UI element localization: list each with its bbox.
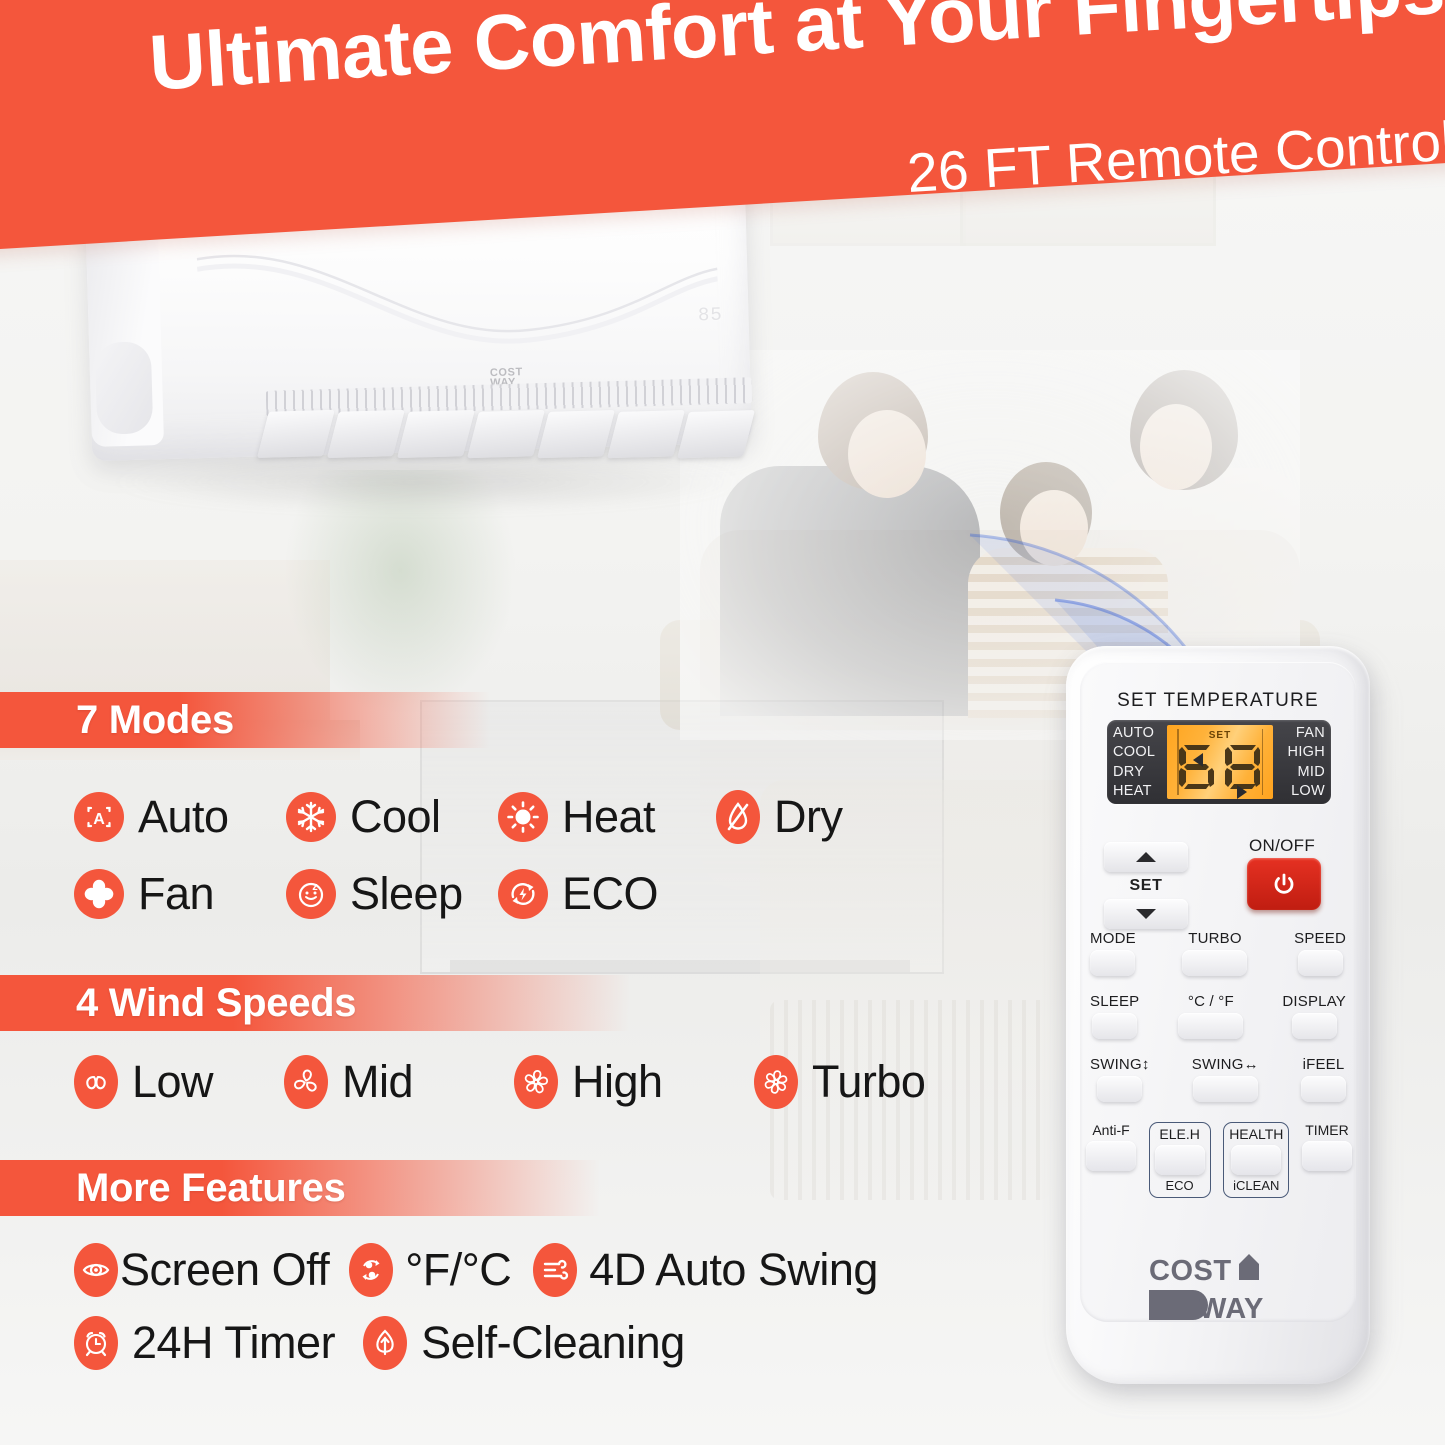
button-label: MODE [1090,930,1136,947]
set-temperature-label: SET TEMPERATURE [1066,690,1370,712]
lcd-fan-labels: FAN HIGH MID LOW [1273,725,1325,799]
mode-row-2: Fan z Sleep [74,868,658,920]
remote-button-grid: MODE TURBO SPEED SLEEP °C / °F [1090,930,1346,1119]
lcd-fan-fan: FAN [1296,725,1325,741]
feature-dry[interactable]: Dry [716,790,842,844]
feature-label: Sleep [350,868,463,920]
lcd-mode-cool: COOL [1113,744,1155,760]
button-cap[interactable] [1155,1145,1205,1175]
power-icon [1271,871,1297,897]
temp-convert-icon [349,1243,393,1297]
remote-button-row-2: SLEEP °C / °F DISPLAY [1090,993,1346,1039]
remote-button-turbo[interactable]: TURBO [1182,930,1247,976]
button-cap[interactable] [1092,1013,1137,1039]
feature-label: Screen Off [120,1244,329,1296]
remote-button-mode[interactable]: MODE [1090,930,1136,976]
button-cap[interactable] [1298,950,1343,976]
button-sublabel: ECO [1166,1178,1194,1193]
product-feature-graphic: 85 COST WAY Ultimate Comfort at Your Fin… [0,0,1445,1445]
lcd-temperature-digits [1167,742,1273,792]
lcd-mode-heat: HEAT [1113,783,1152,799]
brand-text-bottom: WAY [1199,1293,1264,1325]
alarm-clock-icon [74,1316,118,1370]
lcd-mode-labels: AUTO COOL DRY HEAT [1113,725,1165,799]
feature-self-cleaning[interactable]: Self-Cleaning [363,1316,685,1370]
remote-button-swing-vertical[interactable]: SWING↕ [1090,1056,1150,1102]
section-header-more-features: More Features [0,1160,600,1216]
feature-label: High [572,1056,663,1108]
ac-louver [257,410,335,458]
fan-blades-icon [74,869,124,919]
feature-label: 24H Timer [132,1317,335,1369]
button-label: SPEED [1294,930,1346,947]
button-label: °C / °F [1188,993,1234,1010]
remote-button-anti-f[interactable]: Anti-F [1086,1122,1136,1171]
feature-temp-convert[interactable]: °F/°C [349,1243,511,1297]
button-label: HEALTH [1229,1126,1283,1142]
button-label: SWING↔ [1192,1056,1259,1073]
feature-label: 4D Auto Swing [589,1244,878,1296]
feature-label: Dry [774,791,842,843]
ac-side-vent [95,341,154,435]
remote-control: SET TEMPERATURE AUTO COOL DRY HEAT SET [1066,646,1380,1394]
fan-3-blade-icon [284,1055,328,1109]
remote-button-row-3: SWING↕ SWING↔ iFEEL [1090,1056,1346,1102]
ac-louvers [262,388,754,482]
button-cap[interactable] [1090,950,1135,976]
feature-label: Heat [562,791,655,843]
button-label: TIMER [1305,1122,1349,1138]
ac-louver [397,410,475,458]
section-title-more-features: More Features [0,1166,346,1211]
remote-bottom-button-row: Anti-F ELE.H ECO HEALTH iCLEAN TIMER [1086,1122,1352,1198]
fan-6-blade-icon [754,1055,798,1109]
feature-label: Auto [138,791,229,843]
remote-button-unit-toggle[interactable]: °C / °F [1178,993,1243,1039]
svg-text:z: z [312,881,318,893]
sun-icon [498,792,548,842]
more-features-row-2: 24H Timer Self-Cleaning [74,1316,685,1370]
fan-2-blade-icon [74,1055,118,1109]
eco-leaf-icon [498,869,548,919]
remote-brand-logo: COST WAY [1066,1250,1370,1326]
button-cap[interactable] [1178,1013,1243,1039]
button-label: SLEEP [1090,993,1139,1010]
set-down-button[interactable] [1104,899,1188,929]
ac-louver [467,410,545,458]
button-label: DISPLAY [1282,993,1346,1010]
button-cap[interactable] [1231,1145,1281,1175]
ac-louver [327,410,405,458]
lcd-fan-low: LOW [1291,783,1325,799]
section-title-modes: 7 Modes [0,698,234,743]
button-cap[interactable] [1182,950,1247,976]
remote-button-ele-h-eco[interactable]: ELE.H ECO [1149,1122,1211,1198]
ac-louver [607,410,685,458]
button-cap[interactable] [1086,1141,1136,1171]
fan-5-blade-icon [514,1055,558,1109]
auto-mode-icon: A [74,792,124,842]
feature-screen-off[interactable] [74,1243,104,1297]
eye-icon [74,1243,118,1297]
lcd-display: AUTO COOL DRY HEAT SET [1107,720,1331,804]
feature-label: Fan [138,868,214,920]
feature-eco[interactable]: ECO [498,868,658,920]
lcd-screen: SET [1167,725,1273,799]
wind-speed-row: Low Mid [74,1055,925,1109]
remote-button-speed[interactable]: SPEED [1294,930,1346,976]
set-label: SET [1104,877,1188,895]
lcd-arrow-left [1193,753,1203,767]
feature-4d-auto-swing[interactable]: 4D Auto Swing [533,1243,878,1297]
feature-high[interactable]: High [514,1055,754,1109]
hero-title: Ultimate Comfort at Your Fingertips [64,0,1445,111]
feature-label: Turbo [812,1056,925,1108]
remote-button-display[interactable]: DISPLAY [1282,993,1346,1039]
feature-label: Cool [350,791,441,843]
feature-label: Mid [342,1056,413,1108]
set-temperature-controls: SET [1104,842,1188,929]
feature-label: ECO [562,868,658,920]
power-button-label: ON/OFF [1222,836,1342,856]
button-sublabel: iCLEAN [1233,1178,1279,1193]
section-title-wind-speeds: 4 Wind Speeds [0,981,356,1026]
snowflake-icon [286,792,336,842]
feature-label: °F/°C [405,1244,511,1296]
lcd-mode-auto: AUTO [1113,725,1154,741]
power-button[interactable] [1247,858,1321,910]
lcd-set-label: SET [1167,730,1273,741]
feature-low[interactable]: Low [74,1055,284,1109]
sleep-moon-icon: z [286,869,336,919]
mode-row-1: A Auto Cool [74,790,842,844]
feature-auto[interactable]: A Auto [74,791,286,843]
feature-mid[interactable]: Mid [284,1055,514,1109]
seven-segment-68 [1176,742,1264,792]
button-cap[interactable] [1193,1076,1258,1102]
feature-heat[interactable]: Heat [498,791,716,843]
lcd-arrow-right [1237,785,1247,799]
remote-button-timer[interactable]: TIMER [1302,1122,1352,1171]
button-label: ELE.H [1159,1126,1199,1142]
remote-button-swing-horizontal[interactable]: SWING↔ [1192,1056,1259,1102]
remote-button-ifeel[interactable]: iFEEL [1301,1056,1346,1102]
button-cap[interactable] [1097,1076,1142,1102]
feature-label: Low [132,1056,213,1108]
more-features-row-1: Screen Off °F/°C [74,1243,878,1297]
lcd-fan-high: HIGH [1288,744,1325,760]
button-label: SWING↕ [1090,1056,1150,1073]
lcd-fan-mid: MID [1298,764,1325,780]
brand-text-top: COST [1149,1255,1232,1287]
feature-turbo[interactable]: Turbo [754,1055,925,1109]
section-header-modes: 7 Modes [0,692,490,748]
lcd-mode-dry: DRY [1113,764,1144,780]
button-cap[interactable] [1302,1141,1352,1171]
remote-button-sleep[interactable]: SLEEP [1090,993,1139,1039]
feature-label: Self-Cleaning [421,1317,685,1369]
feature-cool[interactable]: Cool [286,791,498,843]
svg-text:A: A [93,811,105,828]
feature-sleep[interactable]: z Sleep [286,868,498,920]
self-clean-icon [363,1316,407,1370]
set-up-button[interactable] [1104,842,1188,872]
ac-display: 85 [698,304,723,327]
ac-louver [537,410,615,458]
feature-fan[interactable]: Fan [74,868,286,920]
button-label: TURBO [1188,930,1242,947]
section-header-wind-speeds: 4 Wind Speeds [0,975,630,1031]
button-cap[interactable] [1301,1076,1346,1102]
dry-droplet-icon [716,790,760,844]
feature-24h-timer[interactable]: 24H Timer [74,1316,335,1370]
button-cap[interactable] [1292,1013,1337,1039]
wind-swing-icon [533,1243,577,1297]
brand-house-icon [1239,1254,1259,1280]
remote-button-row-1: MODE TURBO SPEED [1090,930,1346,976]
ac-louver [677,410,755,458]
remote-button-health-iclean[interactable]: HEALTH iCLEAN [1223,1122,1289,1198]
button-label: Anti-F [1092,1122,1129,1138]
button-label: iFEEL [1303,1056,1345,1073]
